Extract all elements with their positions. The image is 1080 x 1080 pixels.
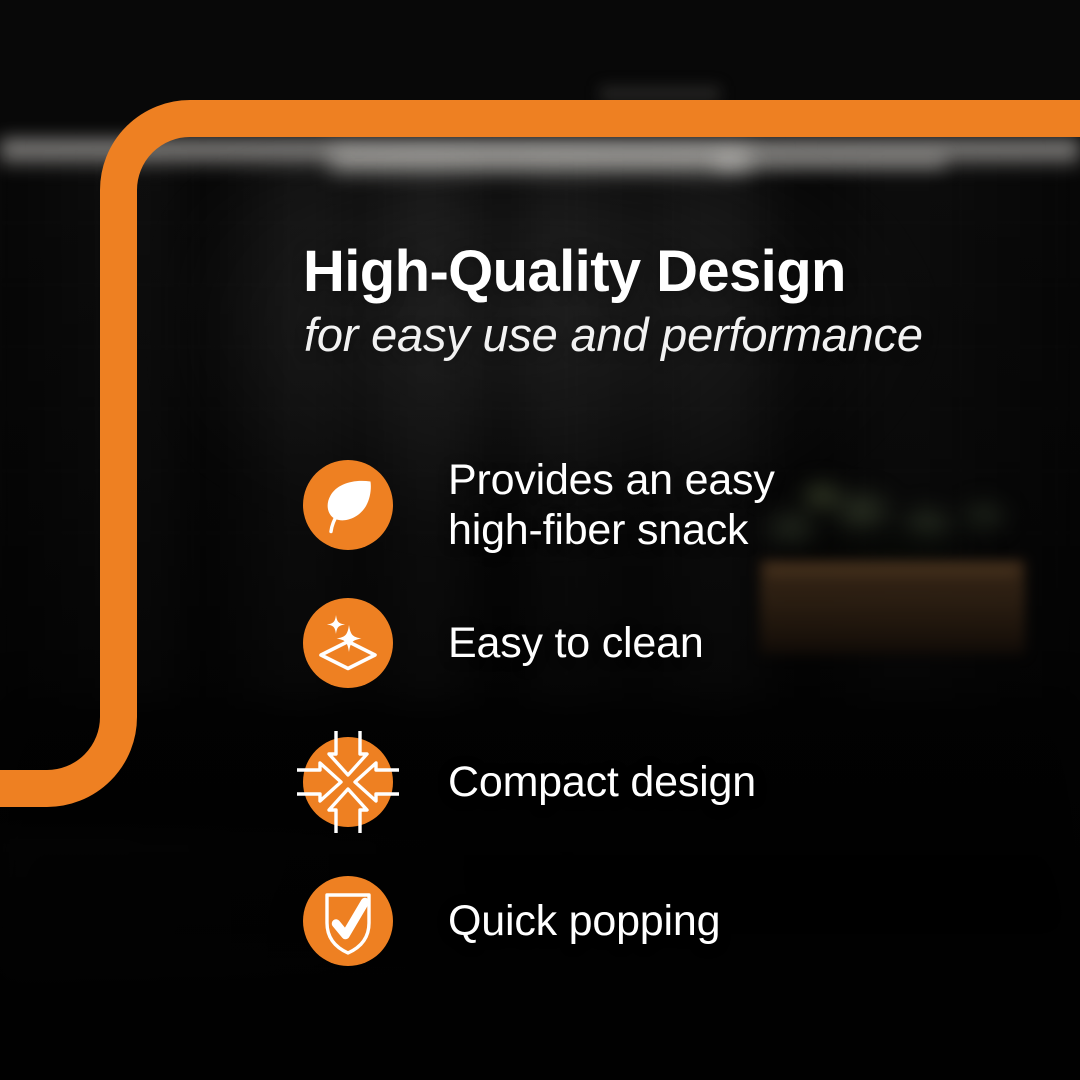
feature-label: Compact design (448, 757, 756, 807)
feature-item-compact-design: Compact design (303, 737, 756, 827)
leaf-icon (303, 460, 393, 550)
feature-list: Provides an easy high-fiber snack (0, 0, 1080, 1080)
feature-item-easy-to-clean: Easy to clean (303, 598, 704, 688)
feature-label: Quick popping (448, 896, 720, 946)
feature-item-quick-popping: Quick popping (303, 876, 720, 966)
shield-check-icon (303, 876, 393, 966)
feature-label: Easy to clean (448, 618, 704, 668)
feature-item-high-fiber-snack: Provides an easy high-fiber snack (303, 455, 775, 556)
promo-graphic: High-Quality Design for easy use and per… (0, 0, 1080, 1080)
sparkle-surface-icon (303, 598, 393, 688)
compress-arrows-icon (303, 737, 393, 827)
content-area: High-Quality Design for easy use and per… (0, 0, 1080, 1080)
feature-label: Provides an easy high-fiber snack (448, 455, 775, 556)
